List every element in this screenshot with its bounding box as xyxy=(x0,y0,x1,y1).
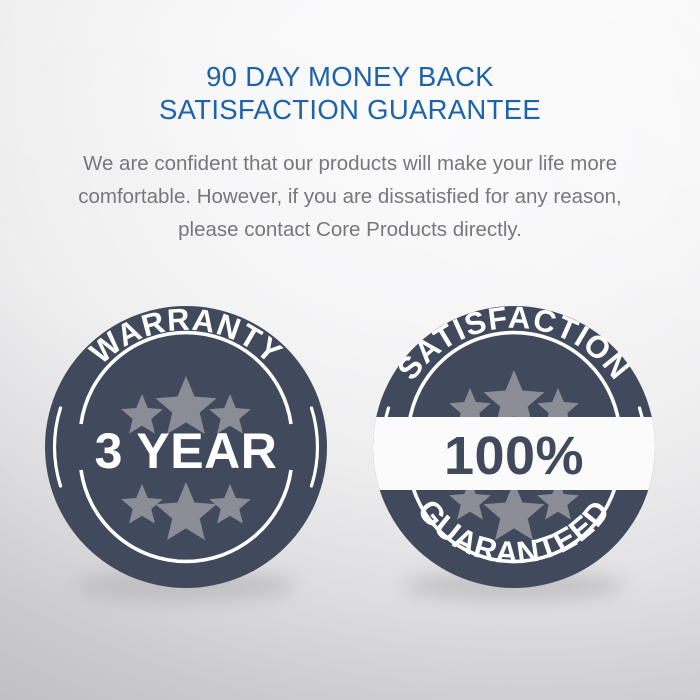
headline-line-2: SATISFACTION GUARANTEE xyxy=(0,93,700,126)
body-line-2: comfortable. However, if you are dissati… xyxy=(0,180,700,213)
warranty-badge: WARRANTY 3 YEAR xyxy=(36,296,336,596)
satisfaction-badge: SATISFACTION GUARANTEED xyxy=(364,296,664,596)
page-title: 90 DAY MONEY BACK SATISFACTION GUARANTEE xyxy=(0,27,700,159)
badge-center-text: 100% xyxy=(444,426,584,486)
body-paragraph: We are confident that our products will … xyxy=(0,147,700,246)
badge-center-text: 3 YEAR xyxy=(95,423,278,479)
body-line-1: We are confident that our products will … xyxy=(0,147,700,180)
body-line-3: please contact Core Products directly. xyxy=(0,213,700,246)
headline-line-1: 90 DAY MONEY BACK xyxy=(206,61,494,92)
guarantee-graphic: 90 DAY MONEY BACK SATISFACTION GUARANTEE… xyxy=(0,0,700,700)
